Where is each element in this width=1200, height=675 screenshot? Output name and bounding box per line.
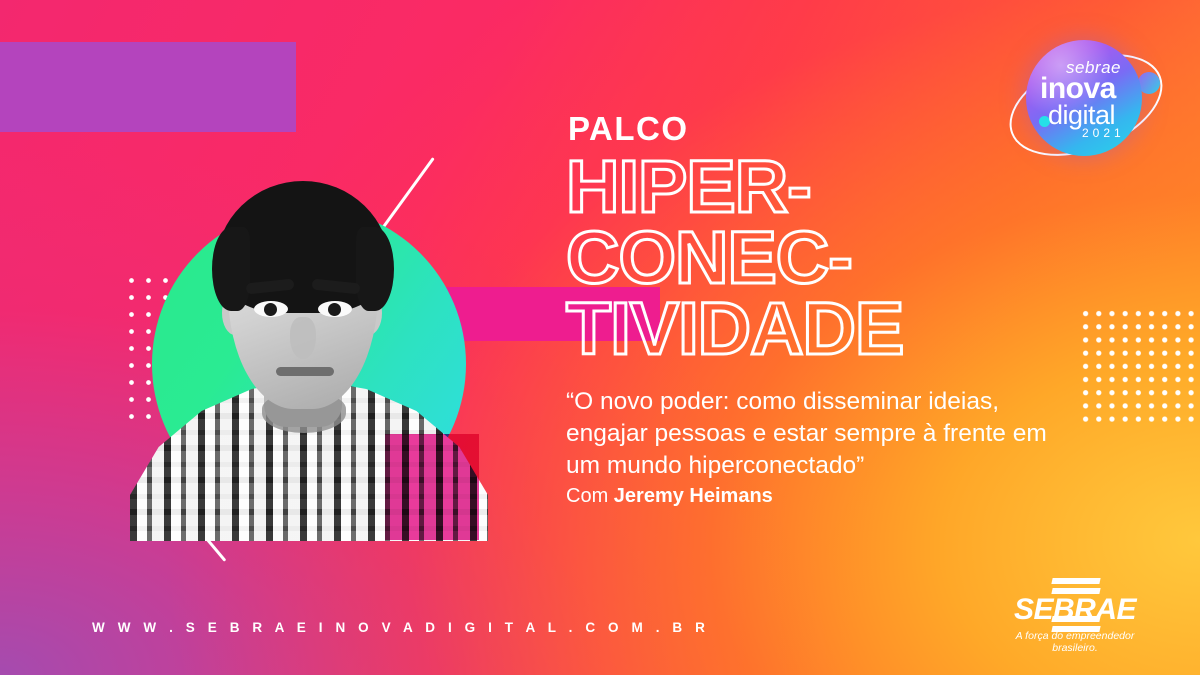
speaker-prefix: Com — [566, 485, 608, 507]
page-title: HIPER- CONEC- TIVIDADE — [566, 151, 1126, 364]
photo-mouth — [276, 367, 334, 376]
logo-text-group: sebrae inova digital 2021 — [1026, 40, 1142, 156]
magenta-overlay-square — [385, 434, 479, 540]
photo-hair-side-right — [356, 227, 394, 311]
purple-accent-bar — [0, 42, 296, 132]
photo-nose — [290, 317, 316, 359]
speaker-name: Jeremy Heimans — [614, 485, 773, 507]
inova-digital-logo: sebrae inova digital 2021 — [1000, 22, 1168, 172]
speaker-credit: Com Jeremy Heimans — [566, 485, 1126, 508]
sebrae-logo: SEBRAE A força do empreendedor brasileir… — [1000, 578, 1150, 640]
promo-slide: PALCO HIPER- CONEC- TIVIDADE “O novo pod… — [0, 0, 1200, 675]
logo-year: 2021 — [1082, 126, 1125, 140]
website-url: W W W . S E B R A E I N O V A D I G I T … — [92, 620, 709, 635]
title-line-3: TIVIDADE — [566, 293, 1126, 364]
sebrae-wordmark: SEBRAE — [1000, 593, 1150, 627]
title-line-2: CONEC- — [566, 222, 1126, 293]
photo-hair-side-left — [212, 227, 250, 311]
photo-pupil-left — [264, 303, 277, 316]
photo-pupil-right — [328, 303, 341, 316]
talk-quote: “O novo poder: como disseminar ideias, e… — [566, 386, 1066, 482]
sebrae-tagline: A força do empreendedor brasileiro. — [1000, 630, 1150, 654]
